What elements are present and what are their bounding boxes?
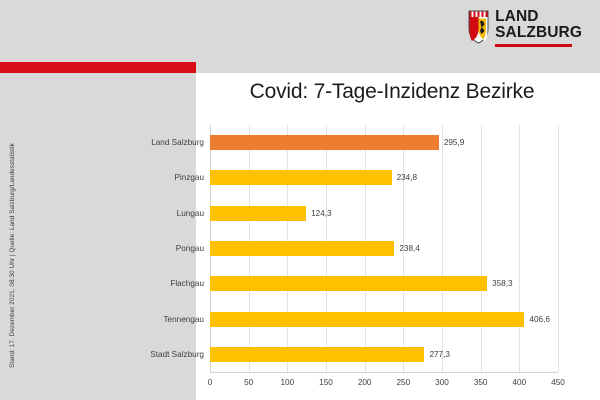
x-tick-label: 50 <box>234 378 264 387</box>
bar-chart: Land Salzburg295,9Pinzgau234,8Lungau124,… <box>0 125 600 400</box>
chart-row: Flachgau358,3 <box>0 266 600 301</box>
bar[interactable] <box>210 312 524 327</box>
category-label: Lungau <box>110 209 204 218</box>
chart-title: Covid: 7-Tage-Inzidenz Bezirke <box>196 80 588 104</box>
value-label: 358,3 <box>492 279 513 288</box>
value-label: 234,8 <box>397 173 418 182</box>
x-tick-label: 300 <box>427 378 457 387</box>
category-label: Stadt Salzburg <box>110 350 204 359</box>
bar[interactable] <box>210 241 394 256</box>
chart-row: Pongau238,4 <box>0 231 600 266</box>
x-tick-label: 350 <box>466 378 496 387</box>
value-label: 124,3 <box>311 209 332 218</box>
salzburg-coat-of-arms-icon <box>468 9 489 44</box>
x-tick-label: 100 <box>272 378 302 387</box>
value-label: 406,6 <box>529 315 550 324</box>
chart-row: Lungau124,3 <box>0 196 600 231</box>
chart-row: Pinzgau234,8 <box>0 160 600 195</box>
category-label: Pinzgau <box>110 173 204 182</box>
x-tick-label: 250 <box>388 378 418 387</box>
value-label: 295,9 <box>444 138 465 147</box>
category-label: Tennengau <box>110 315 204 324</box>
bar[interactable] <box>210 206 306 221</box>
bar[interactable] <box>210 347 424 362</box>
x-axis-line <box>210 372 558 373</box>
value-label: 238,4 <box>399 244 420 253</box>
x-tick-label: 400 <box>504 378 534 387</box>
logo-line-salzburg: SALZBURG <box>495 25 582 41</box>
value-label: 277,3 <box>429 350 450 359</box>
x-tick-label: 0 <box>195 378 225 387</box>
logo-text: LAND SALZBURG <box>495 9 582 47</box>
category-label: Land Salzburg <box>110 138 204 147</box>
chart-row: Tennengau406,6 <box>0 301 600 336</box>
x-tick-label: 200 <box>350 378 380 387</box>
bar[interactable] <box>210 135 439 150</box>
bar[interactable] <box>210 276 487 291</box>
category-label: Flachgau <box>110 279 204 288</box>
x-tick-label: 150 <box>311 378 341 387</box>
bar[interactable] <box>210 170 392 185</box>
x-axis: 050100150200250300350400450 <box>0 372 600 396</box>
category-label: Pongau <box>110 244 204 253</box>
red-accent-bar <box>0 62 196 73</box>
header-band: LAND SALZBURG <box>0 0 600 62</box>
x-tick-label: 450 <box>543 378 573 387</box>
chart-rows: Land Salzburg295,9Pinzgau234,8Lungau124,… <box>0 125 600 372</box>
chart-row: Land Salzburg295,9 <box>0 125 600 160</box>
land-salzburg-logo: LAND SALZBURG <box>468 9 582 47</box>
logo-underline <box>495 44 571 47</box>
chart-row: Stadt Salzburg277,3 <box>0 337 600 372</box>
logo-line-land: LAND <box>495 9 538 25</box>
